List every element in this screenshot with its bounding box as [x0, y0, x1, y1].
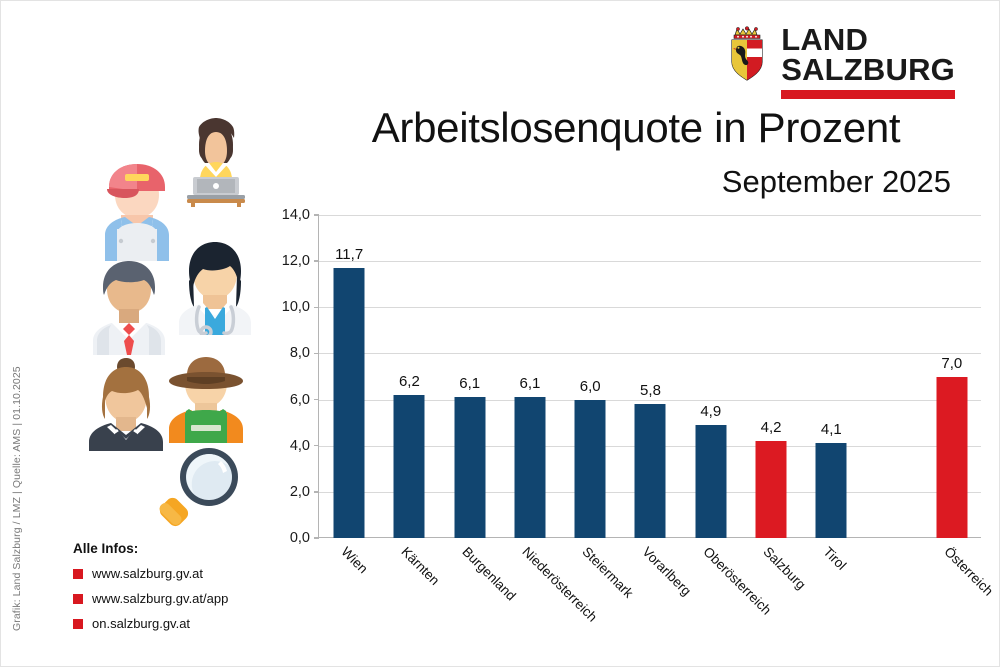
x-axis-label: Österreich [941, 544, 996, 599]
plot-area: 0,02,04,06,08,010,012,014,011,7Wien6,2Kä… [318, 215, 981, 538]
bar-group: 4,9Oberösterreich [681, 215, 741, 538]
bar-value-label: 11,7 [335, 246, 363, 263]
bar-oberösterreich[interactable] [695, 425, 726, 538]
bar-group: 4,1Tirol [801, 215, 861, 538]
infographic-page: Grafik: Land Salzburg / LMZ | Quelle: AM… [0, 0, 1000, 667]
bar-value-label: 4,9 [700, 403, 721, 420]
info-link-on[interactable]: on.salzburg.gv.at [92, 616, 190, 631]
page-title: Arbeitslosenquote in Prozent [321, 104, 951, 152]
bar-steiermark[interactable] [575, 400, 606, 538]
logo-line-salzburg: SALZBURG [781, 55, 955, 85]
info-block: Alle Infos: www.salzburg.gv.at www.salzb… [73, 541, 273, 641]
bar-value-label: 4,1 [821, 421, 842, 438]
info-link-row[interactable]: on.salzburg.gv.at [73, 616, 273, 631]
logo-accent-rule [781, 90, 955, 99]
bar-kärnten[interactable] [394, 395, 425, 538]
info-link-website[interactable]: www.salzburg.gv.at [92, 566, 203, 581]
bar-value-label: 6,1 [520, 375, 541, 392]
x-axis-label: Vorarlberg [640, 544, 695, 599]
bar-value-label: 6,0 [580, 378, 601, 395]
x-axis-label: Salzburg [760, 544, 808, 592]
bar-niederösterreich[interactable] [514, 397, 545, 538]
x-axis-label: Tirol [821, 544, 850, 573]
info-title: Alle Infos: [73, 541, 273, 556]
bar-group: 6,1Niederösterreich [500, 215, 560, 538]
bar-tirol[interactable] [816, 443, 847, 538]
bar-group: 5,8Vorarlberg [620, 215, 680, 538]
bar-wien[interactable] [334, 268, 365, 538]
bar-group: 6,1Burgenland [440, 215, 500, 538]
doctor-avatar [169, 237, 261, 335]
bar-österreich[interactable] [936, 377, 967, 539]
bar-salzburg[interactable] [756, 441, 787, 538]
x-axis-label: Burgenland [459, 544, 518, 603]
info-link-app[interactable]: www.salzburg.gv.at/app [92, 591, 228, 606]
bar-value-label: 6,2 [399, 373, 420, 390]
credit-line: Grafik: Land Salzburg / LMZ | Quelle: AM… [11, 331, 23, 631]
bar-group: 6,0Steiermark [560, 215, 620, 538]
bar-value-label: 4,2 [761, 419, 782, 436]
bar-group: 6,2Kärnten [379, 215, 439, 538]
x-axis-label: Wien [339, 544, 371, 576]
illustration-cluster [59, 109, 259, 529]
bar-value-label: 5,8 [640, 382, 661, 399]
bullet-square-icon [73, 569, 83, 579]
farmer-avatar [159, 345, 253, 443]
bar-group [861, 215, 921, 538]
bar-value-label: 7,0 [941, 355, 962, 372]
page-subtitle: September 2025 [321, 164, 951, 200]
bar-chart: 0,02,04,06,08,010,012,014,011,7Wien6,2Kä… [267, 197, 983, 663]
bar-group: 4,2Salzburg [741, 215, 801, 538]
magnifier-icon [159, 441, 243, 529]
logo-line-land: LAND [781, 25, 955, 55]
land-salzburg-logo: LAND SALZBURG [725, 25, 955, 99]
x-axis-label: Steiermark [580, 544, 637, 601]
info-link-row[interactable]: www.salzburg.gv.at/app [73, 591, 273, 606]
businessman-avatar [85, 257, 173, 355]
bullet-square-icon [73, 594, 83, 604]
x-axis-label: Kärnten [399, 544, 443, 588]
bar-burgenland[interactable] [454, 397, 485, 538]
bar-vorarlberg[interactable] [635, 404, 666, 538]
businesswoman-avatar [81, 355, 171, 451]
info-link-row[interactable]: www.salzburg.gv.at [73, 566, 273, 581]
bullet-square-icon [73, 619, 83, 629]
bar-group: 7,0Österreich [922, 215, 982, 538]
salzburg-coat-of-arms-icon [725, 25, 769, 81]
bar-value-label: 6,1 [459, 375, 480, 392]
bar-group: 11,7Wien [319, 215, 379, 538]
